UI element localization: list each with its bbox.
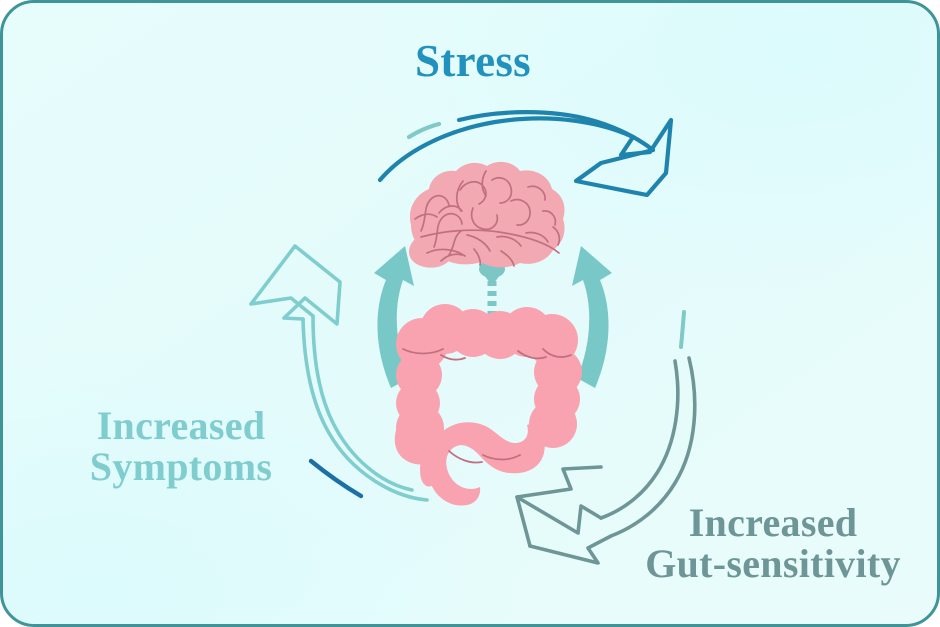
accent-dash-top [409,124,439,137]
brain-illustration [409,162,565,283]
gut-brain-axis-diagram: Stress Increased Symptoms Increased Gut-… [0,0,940,627]
label-stress: Stress [3,39,940,85]
label-increased-gut-sensitivity: Increased Gut-sensitivity [613,503,933,585]
label-increased-symptoms: Increased Symptoms [31,406,331,488]
intestine-illustration [395,304,582,506]
accent-dash-right [681,312,684,347]
